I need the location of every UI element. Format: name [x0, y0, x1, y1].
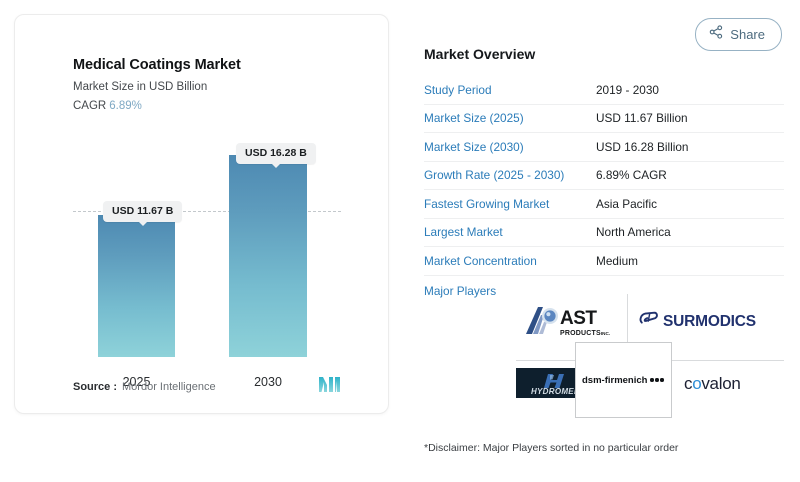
major-players-logo-grid: AST PRODUCTSINC. SURMODICS HYDROMER	[516, 294, 784, 418]
bar-label-2030: USD 16.28 B	[236, 143, 316, 164]
overview-value: Medium	[596, 254, 638, 268]
bar-label-2025: USD 11.67 B	[103, 201, 182, 222]
source-value: Mordor Intelligence	[117, 381, 216, 393]
overview-value: 6.89% CAGR	[596, 168, 667, 182]
mordor-intelligence-logo-icon	[319, 377, 341, 397]
source-row: Source : Mordor Intelligence	[73, 377, 341, 397]
market-overview-title: Market Overview	[424, 46, 784, 62]
overview-row-study-period: Study Period 2019 - 2030	[424, 76, 784, 105]
dsm-firmenich-wordmark: dsm-firmenich	[582, 375, 647, 386]
logo-dsm-firmenich: dsm-firmenich	[575, 342, 672, 418]
overview-key: Study Period	[424, 83, 596, 97]
overview-value: USD 16.28 Billion	[596, 140, 688, 154]
bar-chart-plot: USD 11.67 B USD 16.28 B 2025 2030	[15, 15, 389, 414]
overview-value: Asia Pacific	[596, 197, 657, 211]
market-overview-panel: Market Overview Study Period 2019 - 2030…	[424, 46, 784, 310]
overview-key: Market Size (2030)	[424, 140, 596, 154]
ast-mark-icon	[524, 304, 560, 341]
logo-ast-products: AST PRODUCTSINC.	[524, 304, 610, 341]
surmodics-wordmark: SURMODICS	[663, 313, 756, 331]
overview-row-market-size-2025: Market Size (2025) USD 11.67 Billion	[424, 105, 784, 134]
overview-key: Largest Market	[424, 225, 596, 239]
overview-key: Fastest Growing Market	[424, 197, 596, 211]
overview-row-largest-market: Largest Market North America	[424, 219, 784, 248]
overview-value: USD 11.67 Billion	[596, 111, 688, 125]
dsm-firmenich-dots-icon	[650, 378, 663, 381]
surmodics-mark-icon	[638, 310, 663, 333]
overview-value: North America	[596, 225, 671, 239]
bar-2025[interactable]	[98, 215, 175, 357]
ast-logo-sub: PRODUCTSINC.	[560, 330, 610, 337]
overview-value: 2019 - 2030	[596, 83, 659, 97]
overview-row-market-concentration: Market Concentration Medium	[424, 247, 784, 276]
logo-covalon: covalon	[684, 374, 741, 394]
share-button-label: Share	[730, 27, 765, 42]
covalon-wordmark: covalon	[684, 374, 741, 394]
chart-card: Medical Coatings Market Market Size in U…	[14, 14, 389, 414]
overview-key: Growth Rate (2025 - 2030)	[424, 168, 596, 182]
logo-surmodics: SURMODICS	[638, 310, 756, 333]
bar-2030[interactable]	[229, 155, 307, 357]
ast-logo-main: AST	[560, 309, 610, 328]
overview-key: Market Concentration	[424, 254, 596, 268]
screenshot-root: Medical Coatings Market Market Size in U…	[0, 0, 800, 482]
overview-row-fastest-growing-market: Fastest Growing Market Asia Pacific	[424, 190, 784, 219]
source-label: Source :	[73, 381, 117, 393]
overview-key: Market Size (2025)	[424, 111, 596, 125]
overview-row-market-size-2030: Market Size (2030) USD 16.28 Billion	[424, 133, 784, 162]
disclaimer-text: *Disclaimer: Major Players sorted in no …	[424, 442, 678, 454]
overview-row-growth-rate: Growth Rate (2025 - 2030) 6.89% CAGR	[424, 162, 784, 191]
share-nodes-icon	[709, 25, 723, 44]
ast-wordmark: AST PRODUCTSINC.	[560, 309, 610, 337]
